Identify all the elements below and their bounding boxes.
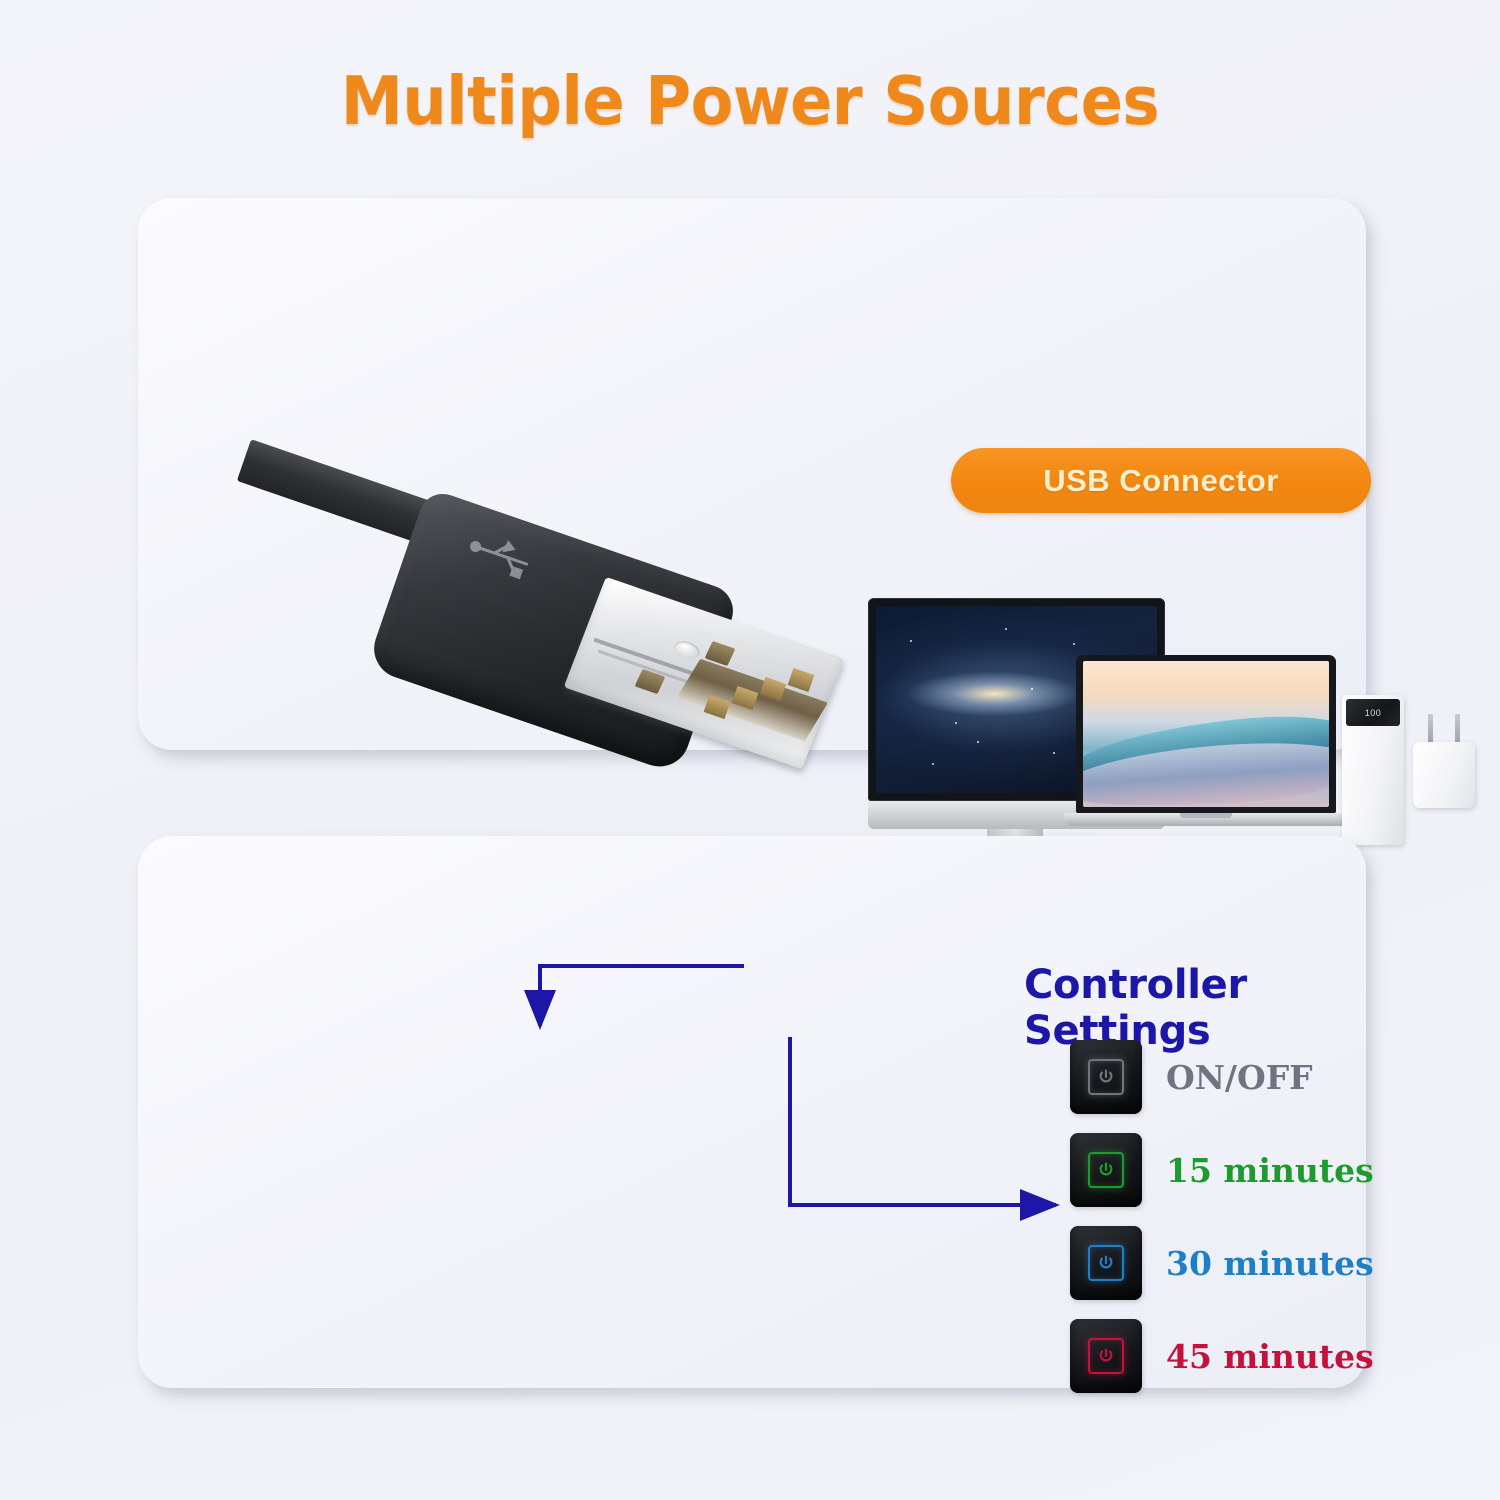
setting-label: ON/OFF <box>1166 1058 1313 1097</box>
setting-power-button[interactable] <box>1070 1133 1142 1207</box>
setting-row[interactable]: 30 minutes <box>1070 1226 1374 1300</box>
setting-label: 45 minutes <box>1166 1337 1374 1376</box>
page-title: Multiple Power Sources <box>53 62 1448 140</box>
usb-connector-badge: USB Connector <box>951 448 1371 513</box>
setting-power-button[interactable] <box>1070 1040 1142 1114</box>
power-icon <box>1088 1059 1124 1095</box>
setting-label: 15 minutes <box>1166 1151 1374 1190</box>
infographic-page: Multiple Power Sources <box>0 0 1500 1500</box>
setting-power-button[interactable] <box>1070 1319 1142 1393</box>
laptop <box>1076 655 1336 813</box>
setting-row[interactable]: ON/OFF <box>1070 1040 1313 1114</box>
controller-settings-panel: Controller Settings ON/OFF15 minutes30 m… <box>1014 962 1374 1362</box>
setting-row[interactable]: 45 minutes <box>1070 1319 1374 1393</box>
usb-connector-badge-label: USB Connector <box>1043 463 1279 499</box>
usb-connector-card: USB Connector <box>138 198 1366 750</box>
usb-connector-illustration <box>238 426 818 816</box>
power-icon <box>1088 1152 1124 1188</box>
power-bank: 100 <box>1342 695 1404 845</box>
power-bank-display: 100 <box>1346 699 1400 726</box>
laptop-wallpaper <box>1083 661 1329 807</box>
compatible-devices-illustration: 100 <box>860 590 1480 848</box>
wall-charger <box>1413 742 1475 808</box>
laptop-trackpad-notch <box>1180 813 1232 818</box>
power-icon <box>1088 1338 1124 1374</box>
setting-power-button[interactable] <box>1070 1226 1142 1300</box>
setting-row[interactable]: 15 minutes <box>1070 1133 1374 1207</box>
setting-label: 30 minutes <box>1166 1244 1374 1283</box>
power-icon <box>1088 1245 1124 1281</box>
